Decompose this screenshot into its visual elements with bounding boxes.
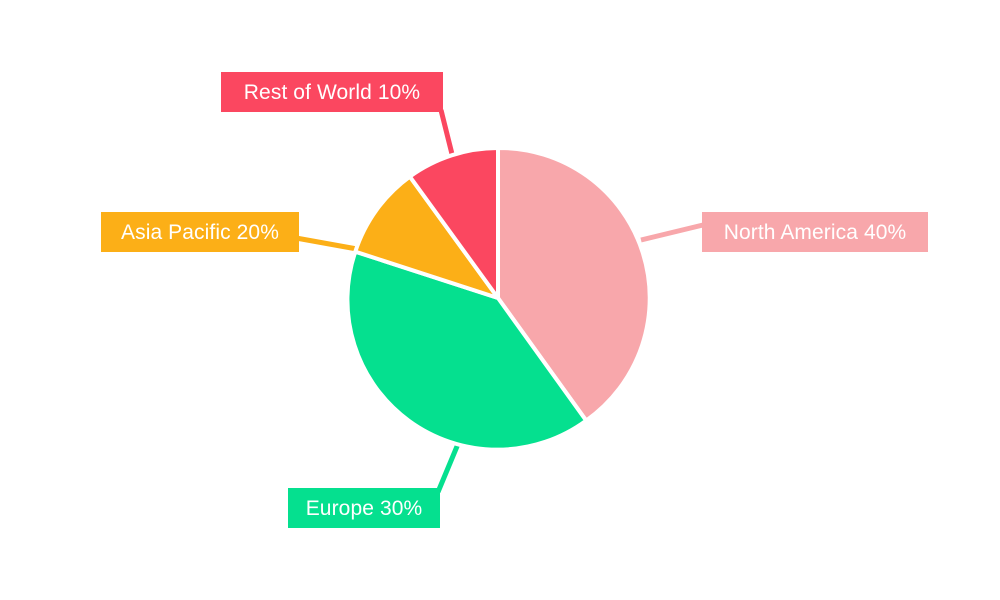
pie-label-europe-text: Europe 30% bbox=[306, 498, 423, 519]
pie-chart-canvas bbox=[0, 0, 1000, 600]
pie-label-rest-of-world: Rest of World 10% bbox=[221, 72, 443, 112]
leader-line-europe bbox=[438, 444, 458, 492]
pie-label-asia-pacific-text: Asia Pacific 20% bbox=[121, 222, 279, 243]
pie-label-rest-of-world-text: Rest of World 10% bbox=[244, 82, 420, 103]
leader-line-north-america bbox=[641, 225, 703, 240]
leader-line-asia-pacific bbox=[296, 238, 357, 249]
pie-label-asia-pacific: Asia Pacific 20% bbox=[101, 212, 299, 252]
pie-chart-figure: North America 40% Europe 30% Asia Pacifi… bbox=[0, 0, 1000, 600]
pie-label-europe: Europe 30% bbox=[288, 488, 440, 528]
pie-label-north-america: North America 40% bbox=[702, 212, 928, 252]
pie-label-north-america-text: North America 40% bbox=[724, 222, 907, 243]
